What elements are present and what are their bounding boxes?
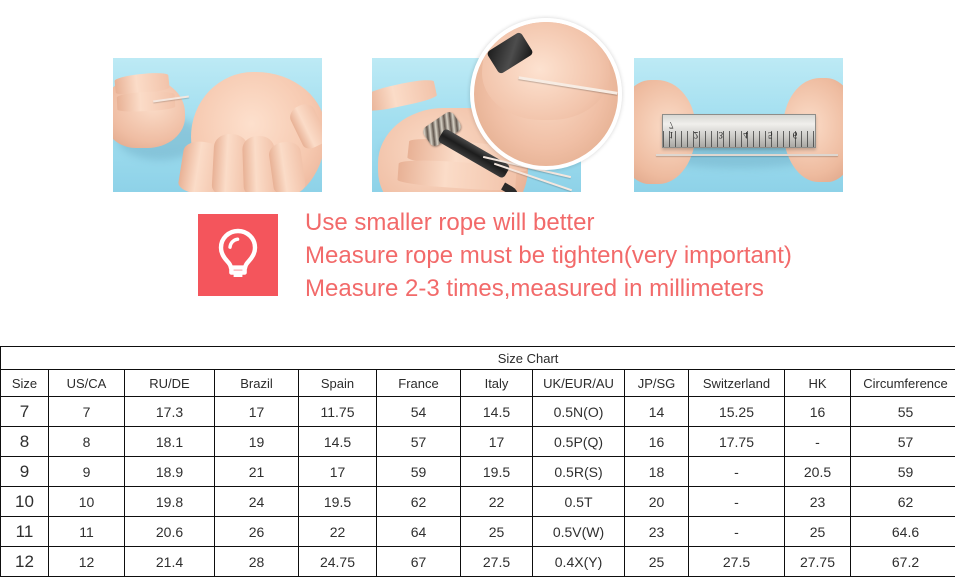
column-header-jp-sg: JP/SG: [625, 370, 689, 397]
cell-uk-eur-au: 0.5R(S): [533, 457, 625, 487]
cell-uk-eur-au: 0.5V(W): [533, 517, 625, 547]
cell-size: 11: [1, 517, 49, 547]
column-header-brazil: Brazil: [215, 370, 299, 397]
column-header-uk-eur-au: UK/EUR/AU: [533, 370, 625, 397]
cell-switzerland: -: [689, 517, 785, 547]
cell-hk: 25: [785, 517, 851, 547]
tip-line-3: Measure 2-3 times,measured in millimeter…: [305, 272, 792, 305]
cell-uk-eur-au: 0.5N(O): [533, 397, 625, 427]
step-1-photo: [113, 58, 322, 192]
table-row: 101019.82419.562220.5T20-236219.8: [1, 487, 955, 517]
cell-jp-sg: 20: [625, 487, 689, 517]
cell-spain: 14.5: [299, 427, 377, 457]
cell-uk-eur-au: 0.5P(Q): [533, 427, 625, 457]
table-row: 8818.11914.557170.5P(Q)1617.75-5718.1: [1, 427, 955, 457]
size-chart-title-row: Size Chart: [1, 347, 955, 370]
size-chart-table: Size Chart SizeUS/CARU/DEBrazilSpainFran…: [0, 346, 955, 577]
cell-jp-sg: 23: [625, 517, 689, 547]
cell-italy: 19.5: [461, 457, 533, 487]
cell-size: 8: [1, 427, 49, 457]
cell-circumference: 62: [851, 487, 955, 517]
cell-switzerland: -: [689, 487, 785, 517]
table-row: 121221.42824.756727.50.4X(Y)2527.527.756…: [1, 547, 955, 577]
cell-italy: 25: [461, 517, 533, 547]
size-chart-title: Size Chart: [1, 347, 955, 370]
cell-hk: 27.75: [785, 547, 851, 577]
column-header-switzerland: Switzerland: [689, 370, 785, 397]
cell-us-ca: 9: [49, 457, 125, 487]
cell-italy: 27.5: [461, 547, 533, 577]
table-row: 7717.31711.755414.50.5N(O)1415.25165517.…: [1, 397, 955, 427]
cell-circumference: 59: [851, 457, 955, 487]
size-chart-header-row: SizeUS/CARU/DEBrazilSpainFranceItalyUK/E…: [1, 370, 955, 397]
cell-uk-eur-au: 0.5T: [533, 487, 625, 517]
cell-brazil: 26: [215, 517, 299, 547]
cell-size: 10: [1, 487, 49, 517]
column-header-us-ca: US/CA: [49, 370, 125, 397]
column-header-circumference: Circumference: [851, 370, 955, 397]
column-header-ru-de: RU/DE: [125, 370, 215, 397]
cell-spain: 24.75: [299, 547, 377, 577]
ruler: 1 2 3 4 5 6 7: [662, 114, 816, 148]
tip-text-lines: Use smaller rope will better Measure rop…: [305, 206, 792, 305]
cell-circumference: 64.6: [851, 517, 955, 547]
column-header-size: Size: [1, 370, 49, 397]
cell-size: 12: [1, 547, 49, 577]
column-header-france: France: [377, 370, 461, 397]
cell-hk: -: [785, 427, 851, 457]
cell-france: 59: [377, 457, 461, 487]
cell-italy: 17: [461, 427, 533, 457]
cell-jp-sg: 14: [625, 397, 689, 427]
cell-brazil: 28: [215, 547, 299, 577]
cell-hk: 23: [785, 487, 851, 517]
cell-france: 54: [377, 397, 461, 427]
column-header-italy: Italy: [461, 370, 533, 397]
cell-ru-de: 18.1: [125, 427, 215, 457]
table-row: 111120.6262264250.5V(W)23-2564.620.6: [1, 517, 955, 547]
cell-spain: 19.5: [299, 487, 377, 517]
cell-switzerland: 17.75: [689, 427, 785, 457]
cell-ru-de: 20.6: [125, 517, 215, 547]
cell-france: 62: [377, 487, 461, 517]
cell-hk: 16: [785, 397, 851, 427]
cell-us-ca: 8: [49, 427, 125, 457]
cell-france: 67: [377, 547, 461, 577]
cell-uk-eur-au: 0.4X(Y): [533, 547, 625, 577]
size-chart-body: 7717.31711.755414.50.5N(O)1415.25165517.…: [1, 397, 955, 577]
cell-brazil: 17: [215, 397, 299, 427]
cell-us-ca: 11: [49, 517, 125, 547]
cell-italy: 22: [461, 487, 533, 517]
cell-switzerland: 15.25: [689, 397, 785, 427]
cell-ru-de: 17.3: [125, 397, 215, 427]
cell-spain: 17: [299, 457, 377, 487]
cell-ru-de: 21.4: [125, 547, 215, 577]
tip-line-1: Use smaller rope will better: [305, 206, 792, 239]
cell-italy: 14.5: [461, 397, 533, 427]
cell-spain: 22: [299, 517, 377, 547]
measured-string: [656, 154, 838, 156]
cell-ru-de: 19.8: [125, 487, 215, 517]
column-header-hk: HK: [785, 370, 851, 397]
cell-us-ca: 12: [49, 547, 125, 577]
measuring-tips-block: Use smaller rope will better Measure rop…: [0, 206, 955, 316]
tip-line-2: Measure rope must be tighten(very import…: [305, 239, 792, 272]
cell-circumference: 55: [851, 397, 955, 427]
cell-us-ca: 7: [49, 397, 125, 427]
cell-france: 64: [377, 517, 461, 547]
cell-circumference: 67.2: [851, 547, 955, 577]
table-row: 9918.921175919.50.5R(S)18-20.55918.9: [1, 457, 955, 487]
step-3-photo: 1 2 3 4 5 6 7: [634, 58, 843, 192]
finger: [117, 90, 176, 112]
cell-brazil: 24: [215, 487, 299, 517]
cell-switzerland: 27.5: [689, 547, 785, 577]
lightbulb-icon: [215, 227, 261, 283]
cell-us-ca: 10: [49, 487, 125, 517]
tip-icon-container: [198, 214, 278, 296]
cell-switzerland: -: [689, 457, 785, 487]
cell-hk: 20.5: [785, 457, 851, 487]
cell-france: 57: [377, 427, 461, 457]
column-header-spain: Spain: [299, 370, 377, 397]
measuring-steps-photo-strip: 1 2 3 4 5 6 7: [0, 0, 955, 200]
cell-size: 7: [1, 397, 49, 427]
step-2-photo-wrapper: [372, 18, 622, 192]
cell-ru-de: 18.9: [125, 457, 215, 487]
ruler-numbers: 1 2 3 4 5 6 7: [669, 120, 815, 140]
size-chart-container: Size Chart SizeUS/CARU/DEBrazilSpainFran…: [0, 346, 955, 577]
cell-brazil: 19: [215, 427, 299, 457]
cell-circumference: 57: [851, 427, 955, 457]
cell-size: 9: [1, 457, 49, 487]
cell-jp-sg: 18: [625, 457, 689, 487]
magnifier-inset: [470, 18, 622, 170]
cell-jp-sg: 25: [625, 547, 689, 577]
cell-spain: 11.75: [299, 397, 377, 427]
cell-jp-sg: 16: [625, 427, 689, 457]
cell-brazil: 21: [215, 457, 299, 487]
